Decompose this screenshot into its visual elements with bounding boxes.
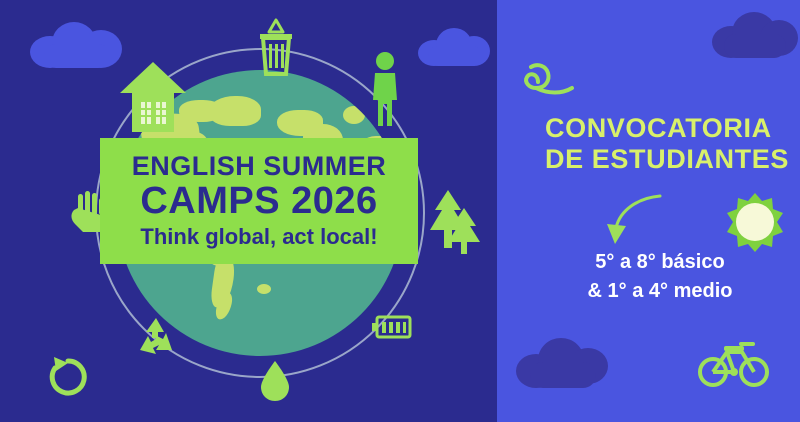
headline-tagline: Think global, act local! [110, 226, 408, 248]
wind-swirl-icon [516, 60, 578, 108]
house-icon [120, 62, 186, 134]
cloud-icon [516, 336, 608, 388]
headline-line2: CAMPS 2026 [110, 182, 408, 220]
bicycle-icon [698, 340, 770, 388]
pine-trees-icon [428, 182, 490, 266]
cloud-icon [712, 10, 798, 60]
levels-line1: 5° a 8° básico [545, 248, 775, 277]
water-drop-icon [258, 360, 292, 402]
announcement-line2: DE ESTUDIANTES [545, 144, 795, 175]
levels-line2: & 1° a 4° medio [545, 277, 775, 306]
announcement-line1: CONVOCATORIA [545, 113, 795, 144]
announcement-block: CONVOCATORIA DE ESTUDIANTES [545, 113, 795, 175]
headline-block: ENGLISH SUMMER CAMPS 2026 Think global, … [100, 138, 418, 264]
person-icon [368, 52, 402, 128]
levels-block: 5° a 8° básico & 1° a 4° medio [545, 248, 775, 306]
recycle-icon [134, 316, 178, 358]
trash-bin-icon [256, 18, 296, 76]
poster-canvas: ENGLISH SUMMER CAMPS 2026 Think global, … [0, 0, 800, 422]
refresh-loop-icon [46, 355, 90, 399]
cloud-icon [418, 28, 490, 66]
sun-icon [725, 193, 785, 253]
curved-arrow-icon [598, 192, 664, 250]
battery-icon [372, 314, 414, 340]
headline-line1: ENGLISH SUMMER [110, 152, 408, 180]
